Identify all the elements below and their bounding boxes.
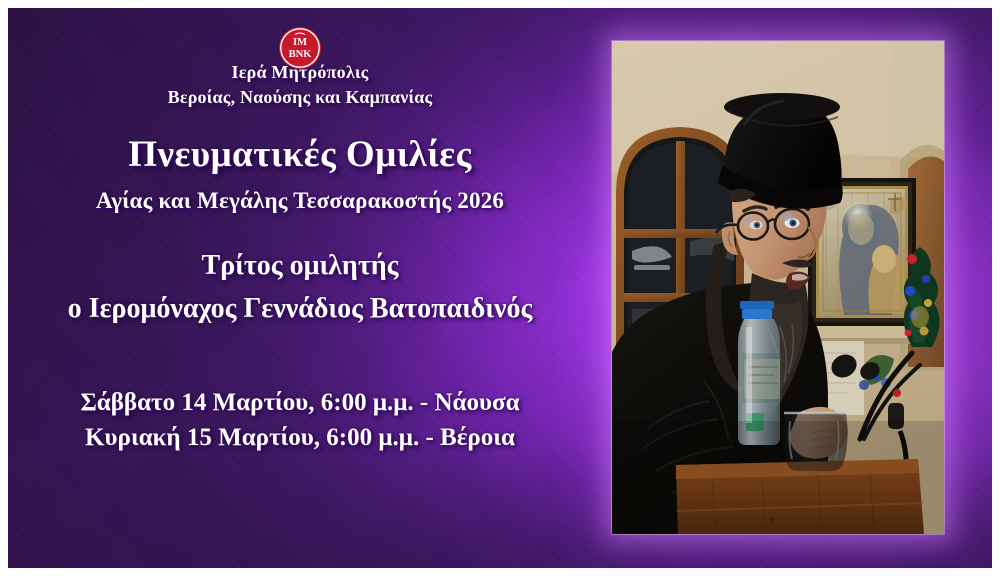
speaker-order: Τρίτος ομιλητής — [0, 250, 600, 282]
text-column: ΙΜ ΒΝΚ Ιερά Μητρόπολις Βεροίας, Ναούσης … — [0, 0, 600, 576]
poster-canvas: ΙΜ ΒΝΚ Ιερά Μητρόπολις Βεροίας, Ναούσης … — [0, 0, 1000, 576]
organization-line-2: Βεροίας, Ναούσης και Καμπανίας — [0, 87, 600, 108]
page-title: Πνευματικές Ομιλίες — [0, 133, 600, 176]
svg-text:ΒΝΚ: ΒΝΚ — [289, 49, 313, 60]
page-subtitle: Αγίας και Μεγάλης Τεσσαρακοστής 2026 — [0, 188, 600, 214]
schedule-item-2: Κυριακή 15 Μαρτίου, 6:00 μ.μ. - Βέροια — [0, 424, 600, 452]
speaker-photo — [612, 41, 944, 534]
organization-line-1: Ιερά Μητρόπολις — [0, 62, 600, 83]
speaker-photo-image — [612, 41, 944, 534]
schedule-item-1: Σάββατο 14 Μαρτίου, 6:00 μ.μ. - Νάουσα — [0, 389, 600, 417]
speaker-name: ο Ιερομόναχος Γεννάδιος Βατοπαιδινός — [0, 293, 600, 325]
svg-text:ΙΜ: ΙΜ — [293, 37, 307, 48]
